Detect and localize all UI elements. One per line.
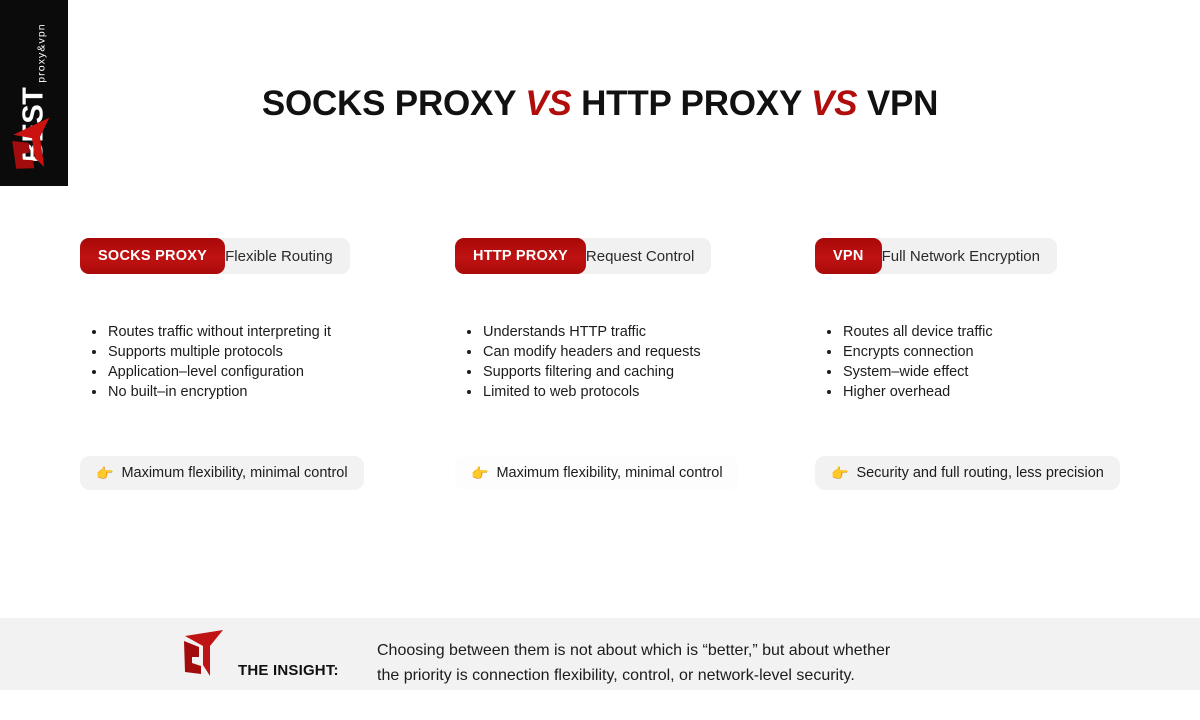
header-pill-http-proxy[interactable]: HTTP PROXY [455,238,586,274]
list-item: Higher overhead [841,382,1160,402]
brand-tagline: proxy&vpn [36,23,49,83]
column-vpn: VPN Full Network Encryption VPN Routes a… [815,238,1160,490]
page-title: SOCKS PROXY VS HTTP PROXY VS VPN [0,84,1200,124]
list-item: Routes all device traffic [841,322,1160,342]
header-pill-socks-proxy[interactable]: SOCKS PROXY [80,238,225,274]
insight-label: THE INSIGHT: [238,662,339,679]
title-vs-1: VS [525,84,571,123]
header-chip-label: Request Control [586,248,711,265]
pointing-hand-icon: 👉 [471,466,488,480]
title-vs-2: VS [811,84,857,123]
outcome-text: Maximum flexibility, minimal control [121,465,347,481]
outcome-text: Security and full routing, less precisio… [856,465,1103,481]
insight-line-2: the priority is connection flexibility, … [377,663,1077,688]
infographic-page: BEST proxy&vpn SOCKS PROXY VS HTTP PROXY… [0,0,1200,720]
insight-bar: THE INSIGHT: Choosing between them is no… [0,618,1200,690]
list-item: Application–level configuration [106,362,430,382]
list-item: Supports filtering and caching [481,362,795,382]
comparison-columns: SOCKS PROXY Flexible Routing SOCKS PROXY… [0,238,1200,528]
column-socks-proxy: SOCKS PROXY Flexible Routing SOCKS PROXY… [80,238,430,490]
header-pill-vpn[interactable]: VPN [815,238,882,274]
title-part-vpn: VPN [867,84,938,123]
outcome-chip: 👉 Maximum flexibility, minimal control [455,456,739,490]
list-item: Understands HTTP traffic [481,322,795,342]
brand-arrow-mark-icon [182,627,226,679]
list-item: System–wide effect [841,362,1160,382]
feature-list: Routes traffic without interpreting it S… [80,322,430,402]
column-header: HTTP PROXY Request Control HTTP PROXY [455,238,795,274]
column-header: VPN Full Network Encryption VPN [815,238,1160,274]
title-part-socks: SOCKS PROXY [262,84,516,123]
column-header: SOCKS PROXY Flexible Routing SOCKS PROXY [80,238,430,274]
list-item: Supports multiple protocols [106,342,430,362]
list-item: Limited to web protocols [481,382,795,402]
feature-list: Understands HTTP traffic Can modify head… [455,322,795,402]
pointing-hand-icon: 👉 [831,466,848,480]
insight-line-1: Choosing between them is not about which… [377,638,1077,663]
outcome-chip: 👉 Security and full routing, less precis… [815,456,1120,490]
list-item: Routes traffic without interpreting it [106,322,430,342]
column-http-proxy: HTTP PROXY Request Control HTTP PROXY Un… [455,238,795,490]
list-item: No built–in encryption [106,382,430,402]
list-item: Can modify headers and requests [481,342,795,362]
brand-arrow-mark-icon [7,115,60,175]
outcome-chip: 👉 Maximum flexibility, minimal control [80,456,364,490]
insight-text: Choosing between them is not about which… [377,638,1077,688]
list-item: Encrypts connection [841,342,1160,362]
header-chip-label: Flexible Routing [225,248,350,265]
header-chip-label: Full Network Encryption [882,248,1057,265]
outcome-text: Maximum flexibility, minimal control [496,465,722,481]
feature-list: Routes all device traffic Encrypts conne… [815,322,1160,402]
title-part-http: HTTP PROXY [581,84,801,123]
pointing-hand-icon: 👉 [96,466,113,480]
